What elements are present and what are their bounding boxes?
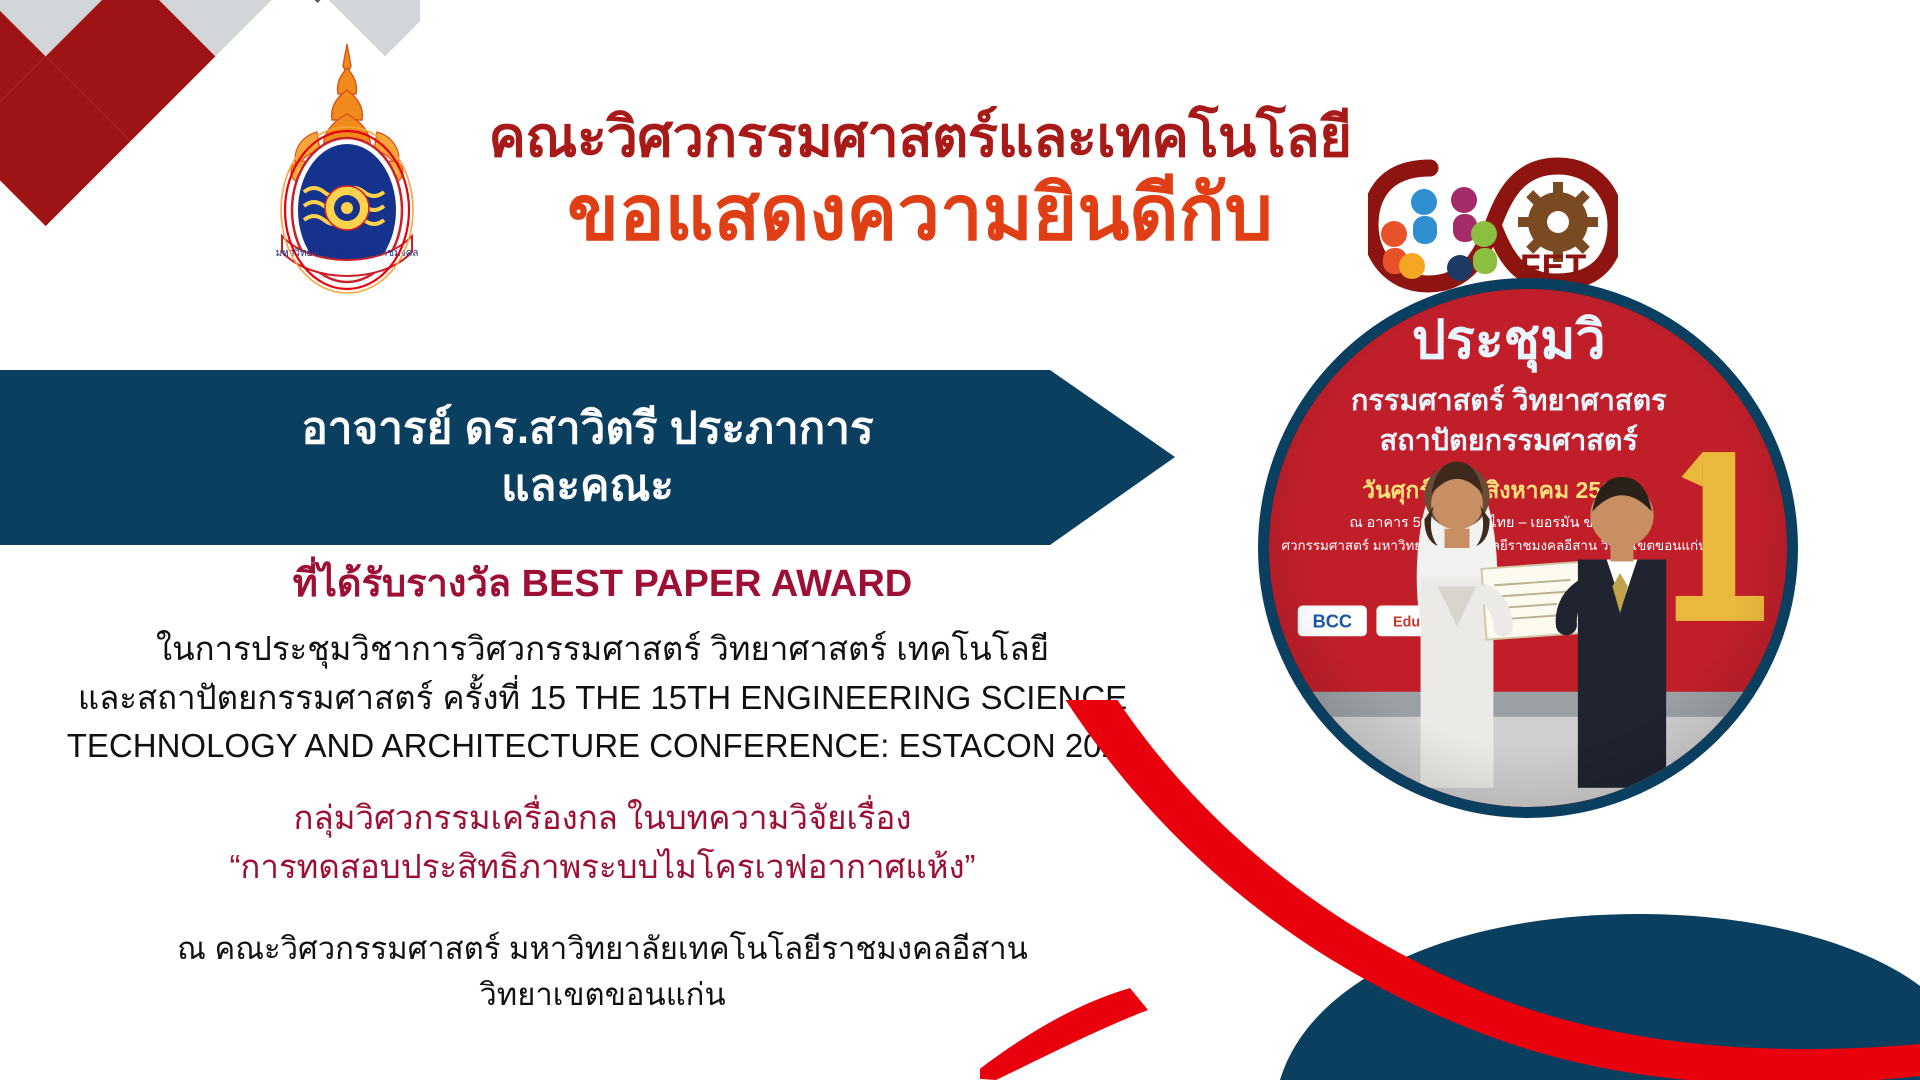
conference-line: ในการประชุมวิชาการวิศวกรรมศาสตร์ วิทยาศา… (0, 625, 1205, 674)
awardee-team: และคณะ (501, 458, 674, 514)
venue-line: วิทยาเขตขอนแก่น (0, 972, 1205, 1019)
poster-body: ที่ได้รับรางวัล BEST PAPER AWARD ในการปร… (0, 560, 1205, 1019)
ceremony-photo-illustration: ประชุมวิ กรรมศาสตร์ วิทยาศาสตร สถาปัตยกร… (1269, 289, 1787, 807)
venue-block: ณ คณะวิศวกรรมศาสตร์ มหาวิทยาลัยเทคโนโลยี… (0, 926, 1205, 1019)
photo-clip: ประชุมวิ กรรมศาสตร์ วิทยาศาสตร สถาปัตยกร… (1269, 289, 1787, 807)
paper-title-line: “การทดสอบประสิทธิภาพระบบไมโครเวฟอากาศแห้… (0, 842, 1205, 892)
conference-line: TECHNOLOGY AND ARCHITECTURE CONFERENCE: … (0, 722, 1205, 771)
congratulations-title: ขอแสดงความยินดีกับ (470, 173, 1370, 255)
awardee-name: อาจารย์ ดร.สาวิตรี ประภาการ (301, 401, 873, 457)
award-heading: ที่ได้รับรางวัล BEST PAPER AWARD (0, 560, 1205, 609)
award-ceremony-photo: ประชุมวิ กรรมศาสตร์ วิทยาศาสตร สถาปัตยกร… (1258, 278, 1798, 818)
navy-wave-shape (1280, 914, 1920, 1080)
paper-group-line: กลุ่มวิศวกรรมเครื่องกล ในบทความวิจัยเรื่… (0, 793, 1205, 843)
paper-block: กลุ่มวิศวกรรมเครื่องกล ในบทความวิจัยเรื่… (0, 793, 1205, 892)
venue-line: ณ คณะวิศวกรรมศาสตร์ มหาวิทยาลัยเทคโนโลยี… (0, 926, 1205, 973)
faculty-title: คณะวิศวกรรมศาสตร์และเทคโนโลยี (470, 108, 1370, 167)
conference-line: และสถาปัตยกรรมศาสตร์ ครั้งที่ 15 THE 15T… (0, 674, 1205, 723)
conference-block: ในการประชุมวิชาการวิศวกรรมศาสตร์ วิทยาศา… (0, 625, 1205, 771)
poster-header: มหาวิทยาลัยเทคโนโลยีราชมงคล คณะวิศวกรรมศ… (0, 0, 1920, 345)
header-text-block: คณะวิศวกรรมศาสตร์และเทคโนโลยี ขอแสดงความ… (470, 108, 1370, 255)
congratulation-poster: มหาวิทยาลัยเทคโนโลยีราชมงคล คณะวิศวกรรมศ… (0, 0, 1920, 1080)
awardee-name-banner: อาจารย์ ดร.สาวิตรี ประภาการ และคณะ (0, 370, 1175, 545)
rmuti-seal-icon: มหาวิทยาลัยเทคโนโลยีราชมงคล (262, 40, 432, 305)
